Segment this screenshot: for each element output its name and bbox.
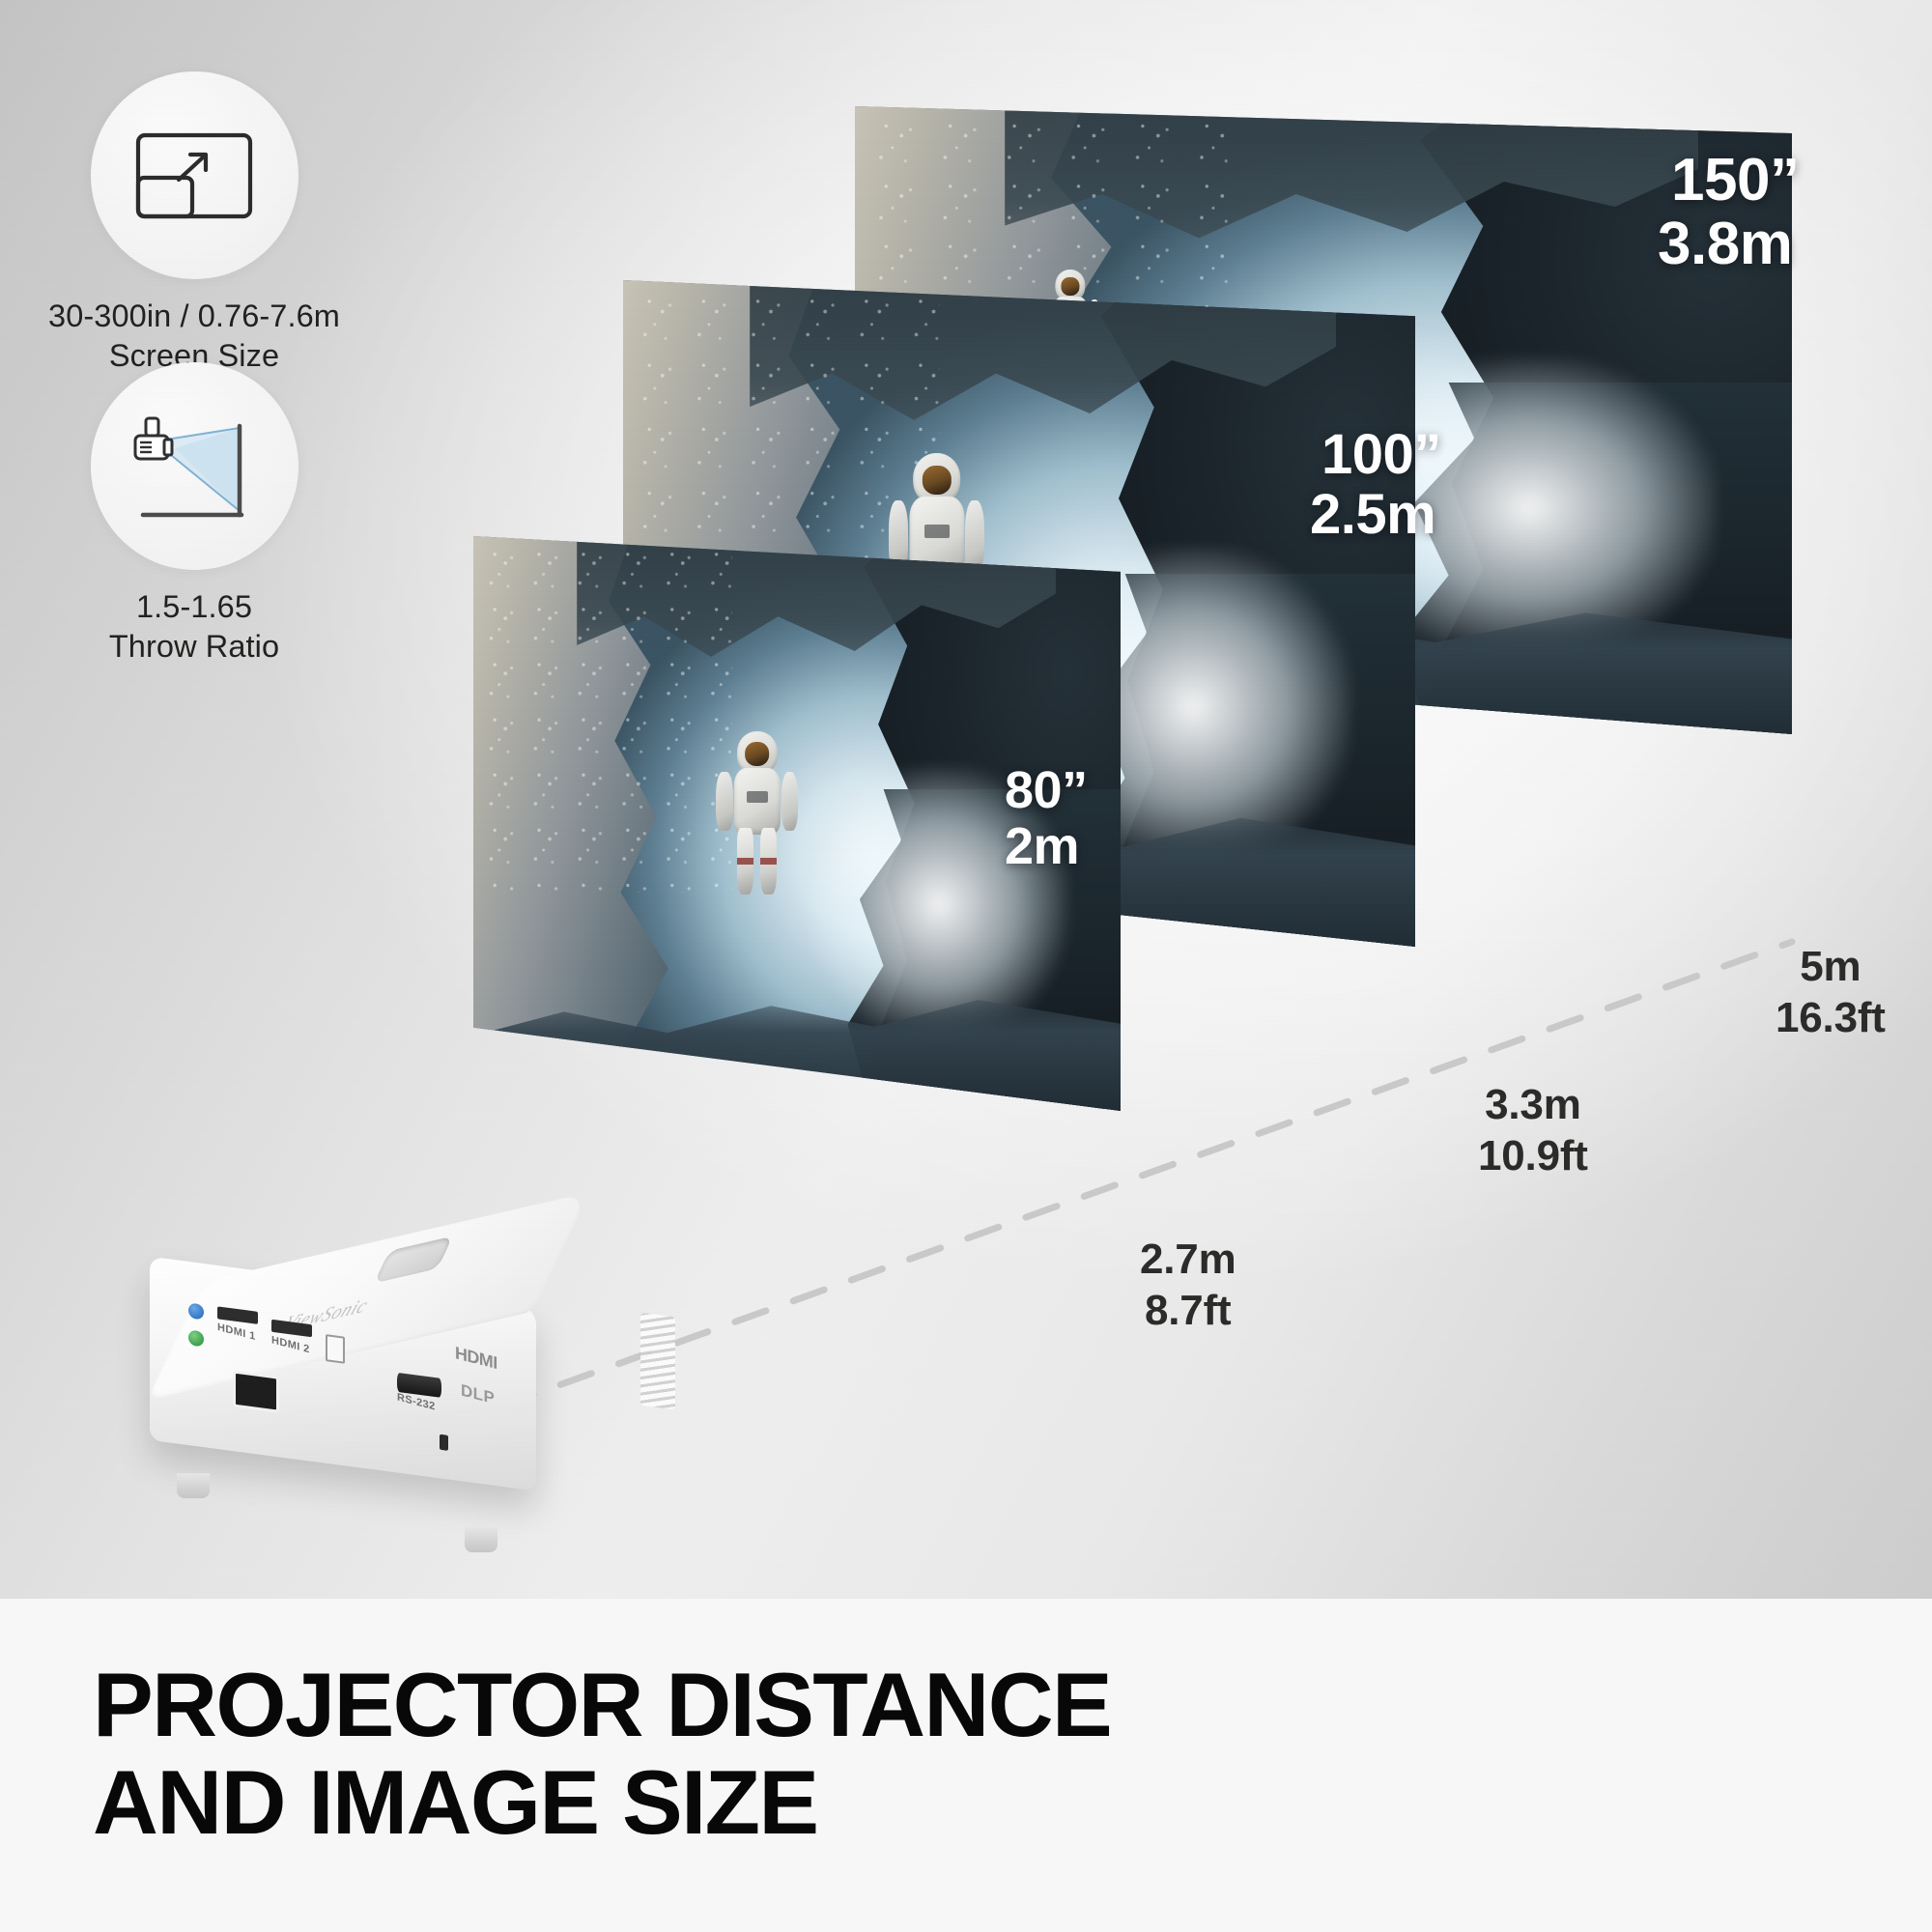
title-section: PROJECTOR DISTANCE AND IMAGE SIZE bbox=[0, 1599, 1932, 1932]
usb-port bbox=[326, 1334, 345, 1364]
feature-screen-size: 30-300in / 0.76-7.6m Screen Size bbox=[35, 71, 354, 376]
hdmi-2-port bbox=[271, 1320, 312, 1338]
page-title-line-1: PROJECTOR DISTANCE bbox=[93, 1657, 1111, 1754]
projector-foot-left bbox=[177, 1473, 210, 1498]
distance-label-80: 2.7m 8.7ft bbox=[1140, 1235, 1236, 1337]
throw-ratio-icon bbox=[122, 407, 267, 526]
power-inlet bbox=[233, 1370, 279, 1412]
distance-80-feet: 8.7ft bbox=[1140, 1286, 1236, 1337]
distance-150-meters: 5m bbox=[1776, 942, 1886, 993]
throw-ratio-badge-circle bbox=[91, 362, 298, 570]
throw-ratio-label: Throw Ratio bbox=[35, 627, 354, 667]
distance-100-feet: 10.9ft bbox=[1478, 1131, 1588, 1182]
throw-ratio-value: 1.5-1.65 bbox=[35, 587, 354, 627]
distance-label-100: 3.3m 10.9ft bbox=[1478, 1080, 1588, 1182]
screen-100-diagonal-inches: 100” bbox=[1321, 423, 1441, 487]
hdmi-1-port bbox=[217, 1306, 258, 1324]
page-title: PROJECTOR DISTANCE AND IMAGE SIZE bbox=[93, 1657, 1111, 1851]
feature-throw-ratio: 1.5-1.65 Throw Ratio bbox=[35, 362, 354, 667]
screen-100-diagonal-meters: 2.5m bbox=[1310, 483, 1435, 547]
astronaut-figure-80 bbox=[720, 731, 795, 897]
kensington-lock-slot bbox=[440, 1435, 448, 1451]
projector-vent bbox=[640, 1313, 675, 1409]
distance-label-150: 5m 16.3ft bbox=[1776, 942, 1886, 1044]
projector-foot-right bbox=[465, 1527, 497, 1552]
hero-stage: 150” 3.8m 100” 2.5m bbox=[0, 0, 1932, 1599]
screen-size-value: 30-300in / 0.76-7.6m bbox=[35, 297, 354, 336]
page-title-line-2: AND IMAGE SIZE bbox=[93, 1754, 1111, 1852]
projector-device: ViewSonic HDMI 1 HDMI 2 RS-232 HDMI DLP bbox=[140, 1222, 681, 1570]
audio-in-jack bbox=[188, 1302, 204, 1320]
audio-out-jack bbox=[188, 1329, 204, 1347]
hdmi-1-label: HDMI 1 bbox=[217, 1321, 256, 1343]
distance-80-meters: 2.7m bbox=[1140, 1235, 1236, 1286]
screen-150-diagonal-meters: 3.8m bbox=[1658, 211, 1792, 279]
hdmi-2-label: HDMI 2 bbox=[271, 1334, 310, 1355]
screen-150-diagonal-inches: 150” bbox=[1671, 147, 1799, 215]
screen-size-icon bbox=[134, 131, 254, 220]
distance-100-meters: 3.3m bbox=[1478, 1080, 1588, 1131]
screen-80-diagonal-inches: 80” bbox=[1005, 761, 1088, 821]
distance-150-feet: 16.3ft bbox=[1776, 993, 1886, 1044]
screen-size-badge-circle bbox=[91, 71, 298, 279]
screen-80-diagonal-meters: 2m bbox=[1005, 817, 1079, 877]
